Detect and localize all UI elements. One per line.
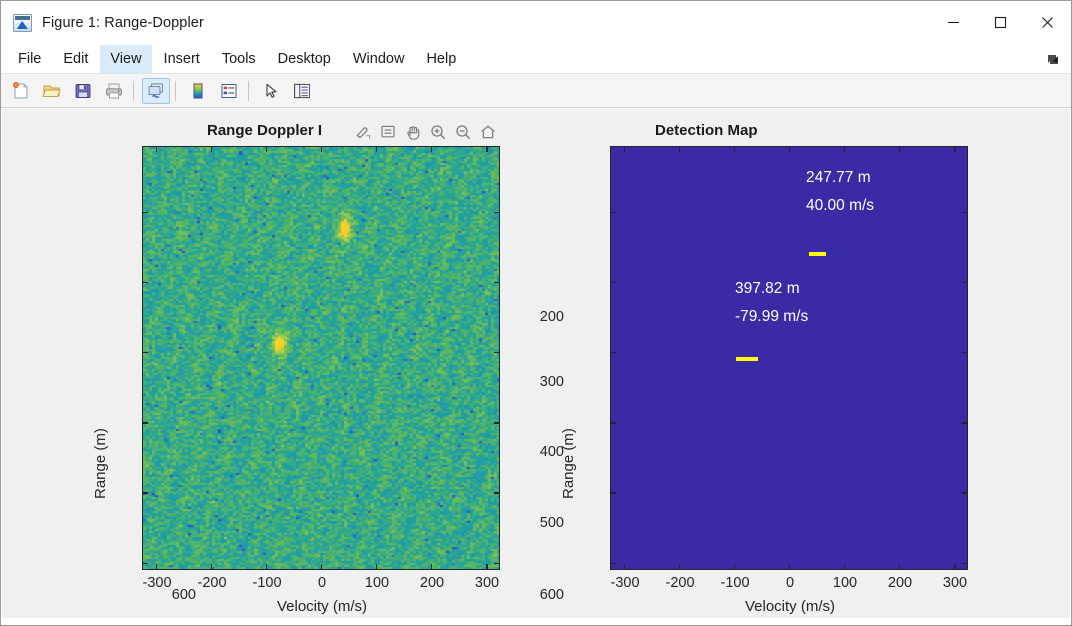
ytickmark-rightside-right-0 bbox=[962, 212, 968, 213]
range-doppler-xlabel: Velocity (m/s) bbox=[222, 598, 422, 615]
detection-map-ylabel: Range (m) bbox=[560, 428, 577, 499]
ytick-300-right: 300 bbox=[518, 374, 564, 390]
menu-item-file[interactable]: File bbox=[8, 45, 51, 73]
xtickmark-right-3 bbox=[789, 564, 790, 570]
ytickmark-rightside-right-3 bbox=[962, 422, 968, 423]
detection-1-velocity-label: 40.00 m/s bbox=[806, 197, 874, 215]
ytickmark-right-4 bbox=[610, 492, 616, 493]
ytickmark-left-4 bbox=[142, 492, 148, 493]
insert-colorbar-button[interactable] bbox=[184, 78, 212, 104]
figure-window: Figure 1: Range-Doppler File Edit View I… bbox=[0, 0, 1072, 626]
ytickmark-rightside-left-5 bbox=[494, 563, 500, 564]
detection-2-range-label: 397.82 m bbox=[735, 280, 800, 298]
ytickmark-right-2 bbox=[610, 352, 616, 353]
xtickmark-right-2 bbox=[734, 564, 735, 570]
detection-2-velocity-label: -79.99 m/s bbox=[735, 308, 808, 326]
toolbar-separator bbox=[133, 81, 134, 101]
ytickmark-rightside-right-5 bbox=[962, 563, 968, 564]
zoom-in-icon[interactable] bbox=[425, 120, 450, 144]
matlab-figure-icon bbox=[13, 14, 32, 32]
xtick-200-left: 200 bbox=[404, 575, 460, 591]
xtickmark-top-right-6 bbox=[954, 146, 955, 152]
new-figure-button[interactable] bbox=[7, 78, 35, 104]
minimize-button[interactable] bbox=[930, 1, 977, 44]
xtick-200-right: 200 bbox=[872, 575, 928, 591]
xtick-n300-left: -300 bbox=[129, 575, 185, 591]
xtickmark-right-1 bbox=[679, 564, 680, 570]
figure-toolbar bbox=[1, 74, 1071, 108]
xtickmark-top-left-4 bbox=[376, 146, 377, 152]
ytickmark-rightside-left-0 bbox=[494, 212, 500, 213]
xtick-100-right: 100 bbox=[817, 575, 873, 591]
ytickmark-right-3 bbox=[610, 422, 616, 423]
xtickmark-top-right-5 bbox=[899, 146, 900, 152]
open-file-button[interactable] bbox=[38, 78, 66, 104]
ytick-500-right: 500 bbox=[518, 515, 564, 531]
xtickmark-top-right-4 bbox=[844, 146, 845, 152]
xtickmark-top-left-6 bbox=[486, 146, 487, 152]
figure-canvas: Range Doppler I bbox=[2, 109, 1070, 618]
xtickmark-top-right-1 bbox=[679, 146, 680, 152]
xtickmark-top-right-3 bbox=[789, 146, 790, 152]
xtick-n200-right: -200 bbox=[652, 575, 708, 591]
xtickmark-left-6 bbox=[486, 564, 487, 570]
xtickmark-left-4 bbox=[376, 564, 377, 570]
detection-map-plot-area[interactable]: 247.77 m 40.00 m/s 397.82 m -79.99 m/s bbox=[610, 146, 968, 570]
print-figure-button[interactable] bbox=[100, 78, 128, 104]
ytickmark-right-0 bbox=[610, 212, 616, 213]
ytickmark-left-0 bbox=[142, 212, 148, 213]
detection-map-title: Detection Map bbox=[655, 122, 758, 139]
range-doppler-image bbox=[143, 147, 500, 570]
maximize-button[interactable] bbox=[977, 1, 1024, 44]
xtickmark-top-right-2 bbox=[734, 146, 735, 152]
xtick-0-left: 0 bbox=[294, 575, 350, 591]
ytickmark-left-5 bbox=[142, 563, 148, 564]
show-plot-tools-button[interactable] bbox=[288, 78, 316, 104]
xtick-n200-left: -200 bbox=[184, 575, 240, 591]
range-doppler-plot-area[interactable] bbox=[142, 146, 500, 570]
xtickmark-right-4 bbox=[844, 564, 845, 570]
xtickmark-top-right-0 bbox=[624, 146, 625, 152]
xtickmark-top-left-2 bbox=[266, 146, 267, 152]
link-plot-button[interactable] bbox=[142, 78, 170, 104]
pan-icon[interactable] bbox=[400, 120, 425, 144]
title-bar: Figure 1: Range-Doppler bbox=[1, 1, 1071, 44]
menu-bar: File Edit View Insert Tools Desktop Wind… bbox=[1, 44, 1071, 74]
xtickmark-top-left-5 bbox=[431, 146, 432, 152]
data-tips-icon[interactable] bbox=[375, 120, 400, 144]
ytickmark-left-1 bbox=[142, 282, 148, 283]
ytickmark-rightside-right-1 bbox=[962, 282, 968, 283]
close-button[interactable] bbox=[1024, 1, 1071, 44]
menu-item-desktop[interactable]: Desktop bbox=[268, 45, 341, 73]
xtickmark-left-1 bbox=[211, 564, 212, 570]
detection-2-marker bbox=[736, 357, 758, 361]
detection-map-background bbox=[611, 147, 967, 569]
range-doppler-title: Range Doppler I bbox=[207, 122, 322, 139]
ytick-400-right: 400 bbox=[518, 444, 564, 460]
xtickmark-right-0 bbox=[624, 564, 625, 570]
ytickmark-right-5 bbox=[610, 563, 616, 564]
undock-arrow-icon[interactable] bbox=[1045, 52, 1061, 68]
save-figure-button[interactable] bbox=[69, 78, 97, 104]
zoom-out-icon[interactable] bbox=[450, 120, 475, 144]
window-controls bbox=[930, 1, 1071, 44]
menu-item-view[interactable]: View bbox=[100, 45, 151, 73]
ytickmark-rightside-right-4 bbox=[962, 492, 968, 493]
edit-plot-button[interactable] bbox=[257, 78, 285, 104]
xtickmark-right-6 bbox=[954, 564, 955, 570]
ytickmark-left-2 bbox=[142, 352, 148, 353]
ytick-200-right: 200 bbox=[518, 309, 564, 325]
menu-item-edit[interactable]: Edit bbox=[53, 45, 98, 73]
xtickmark-right-5 bbox=[899, 564, 900, 570]
xtick-n100-left: -100 bbox=[239, 575, 295, 591]
xtick-0-right: 0 bbox=[762, 575, 818, 591]
insert-legend-button[interactable] bbox=[215, 78, 243, 104]
ytickmark-rightside-right-2 bbox=[962, 352, 968, 353]
ytickmark-rightside-left-4 bbox=[494, 492, 500, 493]
window-title: Figure 1: Range-Doppler bbox=[42, 15, 204, 31]
xtick-n100-right: -100 bbox=[707, 575, 763, 591]
ytickmark-right-1 bbox=[610, 282, 616, 283]
xtickmark-top-left-3 bbox=[321, 146, 322, 152]
xtickmark-left-5 bbox=[431, 564, 432, 570]
detection-1-range-label: 247.77 m bbox=[806, 169, 871, 187]
restore-view-icon[interactable] bbox=[475, 120, 500, 144]
ytickmark-rightside-left-2 bbox=[494, 352, 500, 353]
menu-item-help[interactable]: Help bbox=[416, 45, 466, 73]
brush-data-icon[interactable] bbox=[350, 120, 375, 144]
menu-item-window[interactable]: Window bbox=[343, 45, 415, 73]
xtick-100-left: 100 bbox=[349, 575, 405, 591]
detection-map-xlabel: Velocity (m/s) bbox=[690, 598, 890, 615]
xtick-n300-right: -300 bbox=[597, 575, 653, 591]
xtickmark-left-3 bbox=[321, 564, 322, 570]
xtickmark-top-left-0 bbox=[156, 146, 157, 152]
ytick-600-right: 600 bbox=[518, 587, 564, 603]
menu-item-tools[interactable]: Tools bbox=[212, 45, 266, 73]
xtickmark-left-0 bbox=[156, 564, 157, 570]
menu-item-insert[interactable]: Insert bbox=[154, 45, 210, 73]
ytickmark-rightside-left-3 bbox=[494, 422, 500, 423]
xtickmark-left-2 bbox=[266, 564, 267, 570]
ytickmark-left-3 bbox=[142, 422, 148, 423]
xtickmark-top-left-1 bbox=[211, 146, 212, 152]
xtick-300-right: 300 bbox=[927, 575, 983, 591]
toolbar-separator-2 bbox=[175, 81, 176, 101]
axes-toolbar bbox=[350, 120, 500, 144]
toolbar-separator-3 bbox=[248, 81, 249, 101]
detection-1-marker bbox=[809, 252, 826, 256]
range-doppler-ylabel: Range (m) bbox=[92, 428, 109, 499]
ytickmark-rightside-left-1 bbox=[494, 282, 500, 283]
xtick-300-left: 300 bbox=[459, 575, 515, 591]
